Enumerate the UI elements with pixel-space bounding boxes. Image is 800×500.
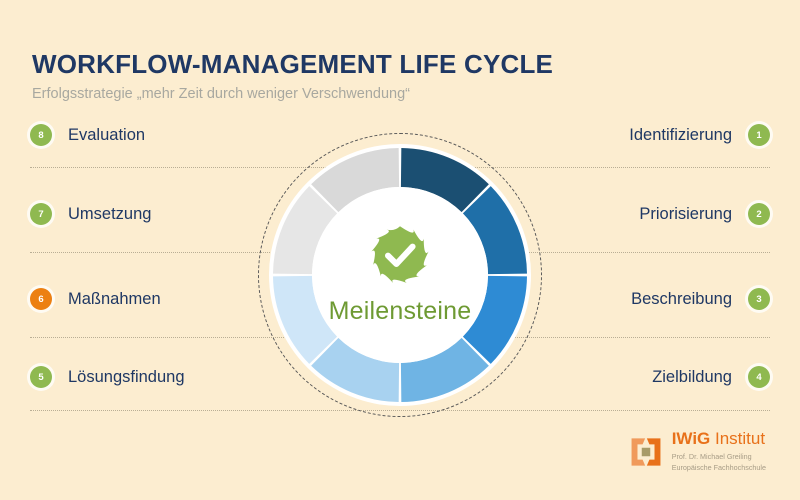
- header: WORKFLOW-MANAGEMENT LIFE CYCLE Erfolgsst…: [32, 50, 553, 102]
- step-item-zielbildung[interactable]: 4 Zielbildung: [652, 362, 770, 392]
- step-label-umsetzung: Umsetzung: [68, 205, 151, 224]
- step-label-massnahmen: Maßnahmen: [68, 290, 161, 309]
- step-badge-3: 3: [748, 288, 770, 310]
- donut-chart: Meilensteine: [258, 133, 542, 417]
- page-title: WORKFLOW-MANAGEMENT LIFE CYCLE: [32, 50, 553, 79]
- step-item-beschreibung[interactable]: 3 Beschreibung: [631, 284, 770, 314]
- step-label-loesungsfindung: Lösungsfindung: [68, 368, 185, 387]
- step-label-zielbildung: Zielbildung: [652, 368, 732, 387]
- page-subtitle: Erfolgsstrategie „mehr Zeit durch wenige…: [32, 86, 553, 102]
- logo-name-bold: IWiG: [672, 429, 711, 448]
- step-item-loesungsfindung[interactable]: 5 Lösungsfindung: [30, 362, 185, 392]
- step-badge-6: 6: [30, 288, 52, 310]
- logo-title: IWiG Institut: [672, 430, 766, 447]
- donut-segments: [258, 133, 542, 417]
- step-item-umsetzung[interactable]: 7 Umsetzung: [30, 199, 151, 229]
- step-label-identifizierung: Identifizierung: [629, 126, 732, 145]
- logo-subtitle-line1: Prof. Dr. Michael Greiling: [672, 452, 766, 462]
- step-label-evaluation: Evaluation: [68, 126, 145, 145]
- step-badge-2: 2: [748, 203, 770, 225]
- step-item-evaluation[interactable]: 8 Evaluation: [30, 120, 145, 150]
- infographic-canvas: WORKFLOW-MANAGEMENT LIFE CYCLE Erfolgsst…: [0, 0, 800, 500]
- step-item-massnahmen[interactable]: 6 Maßnahmen: [30, 284, 161, 314]
- logo-text: IWiG Institut Prof. Dr. Michael Greiling…: [672, 430, 766, 473]
- logo: IWiG Institut Prof. Dr. Michael Greiling…: [629, 430, 766, 473]
- step-item-identifizierung[interactable]: 1 Identifizierung: [629, 120, 770, 150]
- logo-name-rest: Institut: [710, 429, 765, 448]
- step-badge-8: 8: [30, 124, 52, 146]
- step-label-priorisierung: Priorisierung: [639, 205, 732, 224]
- step-badge-7: 7: [30, 203, 52, 225]
- logo-subtitle-line2: Europäische Fachhochschule: [672, 463, 766, 473]
- step-badge-1: 1: [748, 124, 770, 146]
- logo-subtitle: Prof. Dr. Michael Greiling Europäische F…: [672, 452, 766, 473]
- step-label-beschreibung: Beschreibung: [631, 290, 732, 309]
- step-badge-4: 4: [748, 366, 770, 388]
- step-badge-5: 5: [30, 366, 52, 388]
- iwig-logo-mark-icon: [629, 435, 663, 469]
- step-item-priorisierung[interactable]: 2 Priorisierung: [639, 199, 770, 229]
